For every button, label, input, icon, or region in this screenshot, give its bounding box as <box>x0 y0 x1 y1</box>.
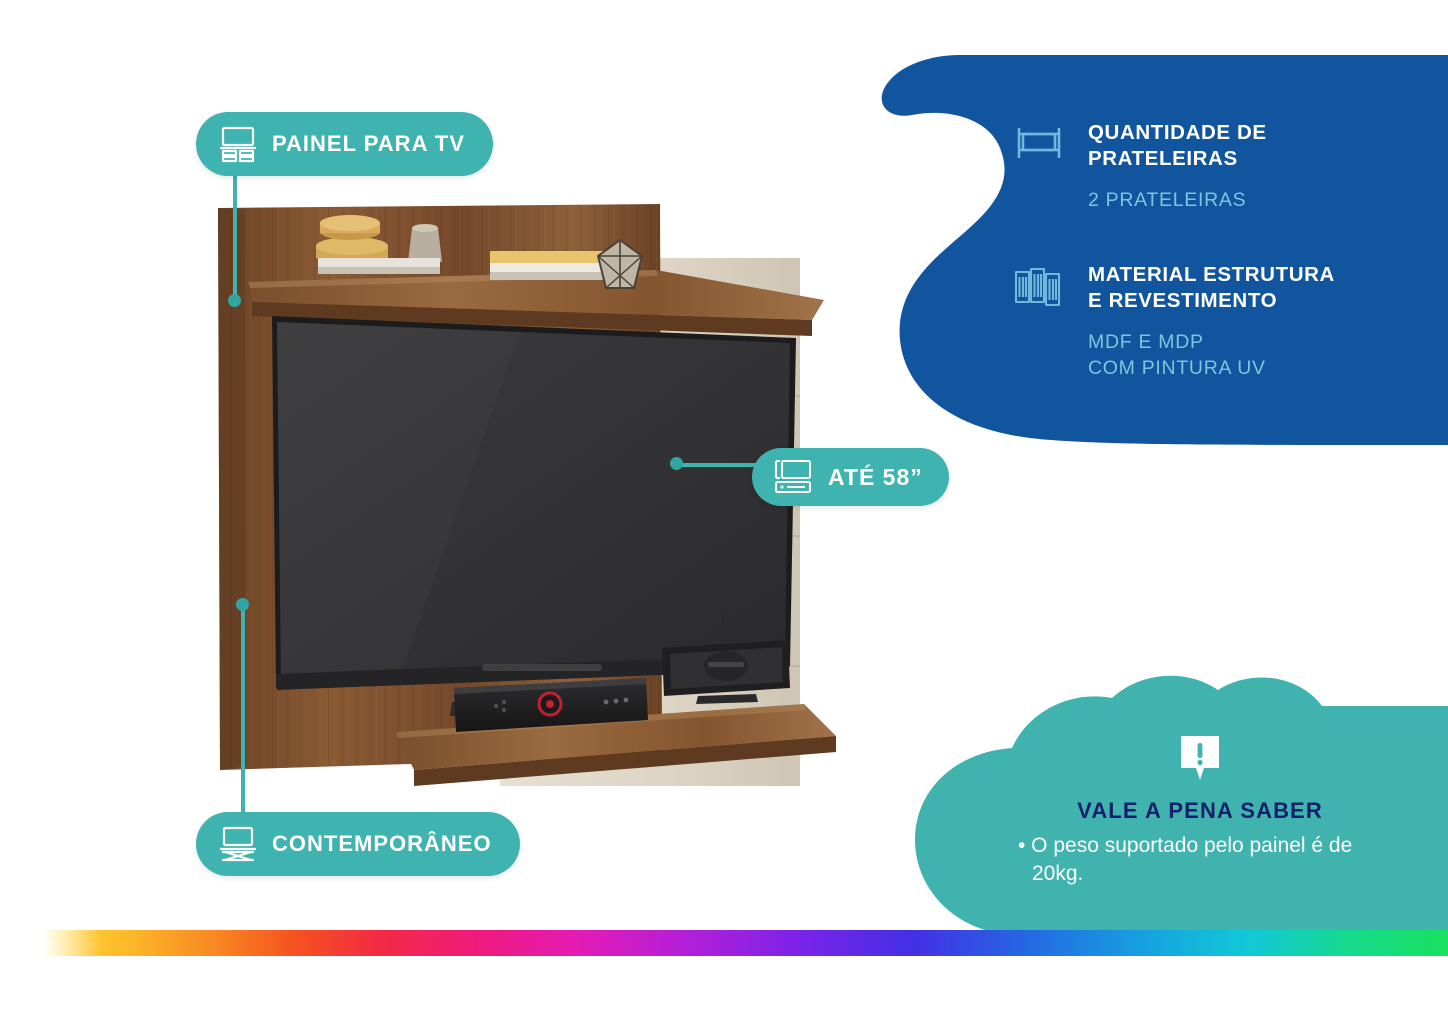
tip-body: • O peso suportado pelo painel é de 20kg… <box>1000 832 1400 889</box>
badge-contemporaneo[interactable]: CONTEMPORÂNEO <box>196 812 520 876</box>
spec-material-title: MATERIAL ESTRUTURA E REVESTIMENTO <box>1088 262 1412 314</box>
rainbow-left-fade <box>42 930 102 956</box>
connector-dot-painel <box>228 294 241 307</box>
tv-media-center-icon <box>772 459 814 495</box>
badge-painel-label: PAINEL PARA TV <box>272 131 465 157</box>
connector-line-contemporaneo <box>241 604 245 824</box>
badge-contemporaneo-label: CONTEMPORÂNEO <box>272 831 492 857</box>
connector-dot-contemporaneo <box>236 598 249 611</box>
wood-boards-icon <box>1012 262 1066 316</box>
connector-line-tv-size <box>676 463 766 467</box>
rainbow-gradient-bar <box>0 930 1448 960</box>
specs-list: QUANTIDADE DE PRATELEIRAS 2 PRATELEIRAS <box>1012 120 1412 429</box>
rainbow-gradient-fill <box>42 930 1448 956</box>
spec-material-value: MDF E MDP COM PINTURA UV <box>1088 330 1412 381</box>
tv-stand-icon <box>218 825 258 863</box>
tv-panel-icon <box>218 125 258 163</box>
connector-line-painel <box>233 172 237 302</box>
spec-item-material: MATERIAL ESTRUTURA E REVESTIMENTO MDF E … <box>1012 262 1412 381</box>
shelf-rack-icon <box>1012 120 1066 174</box>
infographic-canvas: PAINEL PARA TV CONTEMPORÂNEO <box>0 0 1448 1030</box>
tip-block: VALE A PENA SABER • O peso suportado pel… <box>1000 732 1400 889</box>
badge-painel-para-tv[interactable]: PAINEL PARA TV <box>196 112 493 176</box>
tv-panel-product-photo <box>200 196 850 786</box>
badge-tv-size-label: ATÉ 58” <box>828 464 923 491</box>
spec-item-shelves: QUANTIDADE DE PRATELEIRAS 2 PRATELEIRAS <box>1012 120 1412 214</box>
badge-tv-size[interactable]: ATÉ 58” <box>752 448 949 506</box>
spec-shelves-value: 2 PRATELEIRAS <box>1088 188 1412 213</box>
spec-shelves-title: QUANTIDADE DE PRATELEIRAS <box>1088 120 1412 172</box>
alert-bubble-icon <box>1000 732 1400 784</box>
connector-dot-tv-size <box>670 457 683 470</box>
tip-title: VALE A PENA SABER <box>1000 798 1400 824</box>
